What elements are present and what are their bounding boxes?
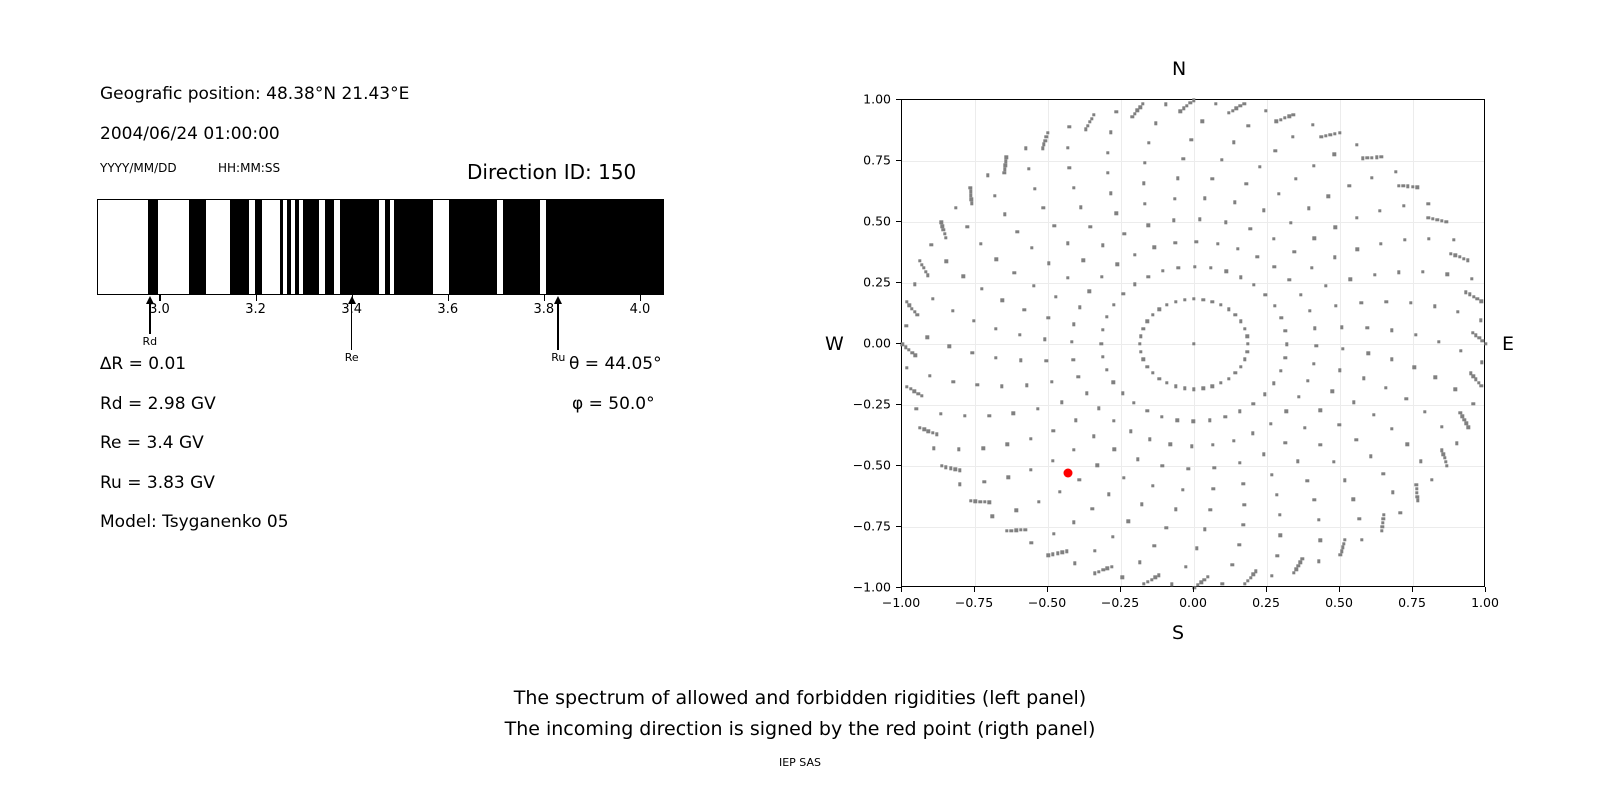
- scatter-point: [1133, 283, 1136, 286]
- scatter-point: [1276, 554, 1279, 557]
- x-tick-label: 0.00: [1179, 595, 1207, 610]
- scatter-point: [928, 374, 931, 377]
- scatter-point: [1092, 113, 1095, 116]
- scatter-point: [1427, 216, 1430, 219]
- scatter-point: [1209, 266, 1212, 269]
- gridline-horizontal: [902, 527, 1484, 528]
- gridline-vertical: [1340, 100, 1341, 586]
- scatter-point: [1338, 369, 1341, 372]
- scatter-point: [1419, 460, 1422, 463]
- scatter-point: [1070, 340, 1073, 343]
- scatter-point: [1234, 371, 1237, 374]
- gridline-vertical: [1121, 100, 1122, 586]
- scatter-point: [917, 392, 920, 395]
- scatter-point: [1334, 304, 1337, 307]
- spectrum-tick-label: 3.8: [534, 302, 555, 317]
- scatter-point: [1239, 320, 1242, 323]
- scatter-point: [1106, 567, 1109, 570]
- scatter-point: [970, 201, 973, 204]
- scatter-point: [1005, 156, 1008, 159]
- scatter-point: [940, 464, 943, 467]
- scatter-point: [1369, 455, 1372, 458]
- scatter-point: [1317, 518, 1320, 521]
- scatter-point: [1138, 342, 1141, 345]
- scatter-point: [1324, 134, 1327, 137]
- scatter-point: [1146, 275, 1149, 278]
- scatter-point: [1255, 255, 1258, 258]
- forbidden-band: [503, 200, 540, 294]
- scatter-point: [943, 232, 946, 235]
- scatter-point: [1013, 271, 1016, 274]
- scatter-point: [1232, 439, 1235, 442]
- y-tick-label: −0.75: [835, 519, 891, 534]
- scatter-point: [1212, 487, 1215, 490]
- scatter-point: [1236, 247, 1239, 250]
- scatter-point: [1307, 207, 1310, 210]
- scatter-point: [1015, 230, 1018, 233]
- caption-line-2: The incoming direction is signed by the …: [0, 718, 1600, 740]
- scatter-point: [1479, 319, 1482, 322]
- gridline-horizontal: [902, 222, 1484, 223]
- scatter-point: [1004, 160, 1007, 163]
- scatter-point: [1462, 257, 1465, 260]
- scatter-point: [1203, 528, 1206, 531]
- scatter-point: [918, 426, 921, 429]
- scatter-point: [1356, 248, 1359, 251]
- scatter-point: [1242, 482, 1245, 485]
- scatter-point: [1192, 420, 1195, 423]
- x-tick-mark: [1047, 587, 1048, 592]
- scatter-point: [1206, 575, 1209, 578]
- scatter-point: [942, 228, 945, 231]
- scatter-point: [1072, 448, 1075, 451]
- scatter-point: [1111, 535, 1114, 538]
- scatter-point: [1310, 266, 1313, 269]
- scatter-point: [1333, 256, 1336, 259]
- scatter-point: [1263, 392, 1266, 395]
- scatter-point: [1258, 165, 1261, 168]
- scatter-point: [1287, 278, 1290, 281]
- gridline-horizontal: [902, 283, 1484, 284]
- spectrum-tick-label: 3.2: [245, 302, 266, 317]
- scatter-point: [914, 354, 917, 357]
- scatter-point: [1404, 397, 1407, 400]
- forbidden-band: [255, 200, 262, 294]
- param-model: Model: Tsyganenko 05: [100, 512, 289, 532]
- scatter-point: [1208, 419, 1211, 422]
- scatter-point: [1146, 320, 1149, 323]
- scatter-point: [1453, 388, 1456, 391]
- scatter-point: [1142, 358, 1145, 361]
- scatter-point: [920, 394, 923, 397]
- scatter-point: [1091, 507, 1094, 510]
- scatter-point: [958, 483, 961, 486]
- scatter-point: [1161, 464, 1164, 467]
- scatter-point: [1109, 191, 1112, 194]
- scatter-point: [1148, 438, 1151, 441]
- marker-arrowhead-ru: [554, 296, 562, 304]
- scatter-point: [1398, 511, 1401, 514]
- scatter-point: [1366, 352, 1369, 355]
- scatter-point: [1251, 432, 1254, 435]
- scatter-point: [1164, 102, 1167, 105]
- scatter-point: [1023, 308, 1026, 311]
- scatter-point: [1019, 359, 1022, 362]
- scatter-point: [1413, 366, 1416, 369]
- marker-arrow-re: [351, 304, 353, 350]
- scatter-point: [1365, 156, 1368, 159]
- direction-scatter-plot: [901, 99, 1485, 587]
- scatter-point: [931, 431, 934, 434]
- scatter-point: [1136, 458, 1139, 461]
- spectrum-tick-label: 4.0: [630, 302, 651, 317]
- scatter-point: [1292, 113, 1295, 116]
- x-tick-mark: [1339, 587, 1340, 592]
- scatter-point: [969, 194, 972, 197]
- scatter-point: [1299, 293, 1302, 296]
- x-tick-mark: [974, 587, 975, 592]
- scatter-point: [1249, 227, 1252, 230]
- scatter-point: [1201, 119, 1204, 122]
- scatter-point: [1291, 135, 1294, 138]
- scatter-point: [1381, 472, 1384, 475]
- param-rd: Rd = 2.98 GV: [100, 394, 216, 414]
- scatter-point: [1158, 308, 1161, 311]
- scatter-point: [1068, 125, 1071, 128]
- scatter-point: [1243, 503, 1246, 506]
- scatter-point: [1452, 238, 1455, 241]
- scatter-point: [1024, 146, 1027, 149]
- scatter-point: [1216, 242, 1219, 245]
- scatter-point: [1384, 386, 1387, 389]
- scatter-point: [1136, 109, 1139, 112]
- gridline-horizontal: [902, 161, 1484, 162]
- scatter-point: [1284, 409, 1287, 412]
- scatter-point: [1007, 475, 1010, 478]
- param-delta-r: ∆R = 0.01: [100, 354, 186, 374]
- scatter-point: [1284, 329, 1287, 332]
- gridline-vertical: [975, 100, 976, 586]
- scatter-point: [1454, 254, 1457, 257]
- scatter-point: [1224, 220, 1227, 223]
- x-tick-label: −0.50: [1028, 595, 1066, 610]
- scatter-point: [1029, 437, 1032, 440]
- scatter-point: [1100, 342, 1103, 345]
- scatter-point: [1219, 381, 1222, 384]
- scatter-point: [1245, 350, 1248, 353]
- scatter-point: [1066, 276, 1069, 279]
- x-tick-label: −0.75: [955, 595, 993, 610]
- scatter-point: [1143, 161, 1146, 164]
- scatter-point: [1360, 301, 1363, 304]
- scatter-point: [1001, 299, 1004, 302]
- scatter-point: [1138, 561, 1141, 564]
- scatter-point: [913, 282, 916, 285]
- scatter-point: [1330, 389, 1333, 392]
- scatter-point: [1133, 253, 1136, 256]
- scatter-point: [1183, 298, 1186, 301]
- scatter-point: [1112, 303, 1115, 306]
- spectrum-tick: [256, 295, 257, 301]
- scatter-point: [1174, 508, 1177, 511]
- scatter-point: [1211, 177, 1214, 180]
- gridline-horizontal: [902, 466, 1484, 467]
- scatter-point: [1101, 568, 1104, 571]
- scatter-point: [909, 387, 912, 390]
- scatter-point: [1093, 571, 1096, 574]
- y-tick-label: 1.00: [835, 92, 891, 107]
- scatter-point: [920, 263, 923, 266]
- highlighted-direction-point[interactable]: [1064, 469, 1073, 478]
- scatter-point: [1239, 365, 1242, 368]
- scatter-point: [1312, 164, 1315, 167]
- scatter-point: [988, 414, 991, 417]
- scatter-point: [974, 500, 977, 503]
- scatter-point: [1390, 358, 1393, 361]
- direction-id-label: Direction ID: 150: [467, 160, 636, 184]
- scatter-point: [1127, 520, 1130, 523]
- scatter-point: [1352, 498, 1355, 501]
- scatter-point: [1173, 197, 1176, 200]
- param-theta: θ = 44.05°: [569, 354, 662, 374]
- scatter-point: [1319, 539, 1322, 542]
- scatter-point: [1089, 225, 1092, 228]
- scatter-point: [1284, 441, 1287, 444]
- scatter-point: [969, 190, 972, 193]
- scatter-point: [1297, 395, 1300, 398]
- scatter-point: [1245, 182, 1248, 185]
- x-tick-mark: [901, 587, 902, 592]
- scatter-point: [1437, 340, 1440, 343]
- scatter-point: [1109, 131, 1112, 134]
- scatter-point: [1238, 410, 1241, 413]
- x-tick-mark: [1266, 587, 1267, 592]
- scatter-point: [1264, 293, 1267, 296]
- forbidden-band: [303, 200, 319, 294]
- scatter-point: [1082, 259, 1085, 262]
- scatter-point: [1219, 303, 1222, 306]
- param-phi: φ = 50.0°: [572, 394, 655, 414]
- scatter-point: [1273, 149, 1276, 152]
- scatter-point: [1052, 224, 1055, 227]
- scatter-point: [1312, 362, 1315, 365]
- scatter-point: [1366, 326, 1369, 329]
- scatter-point: [1192, 297, 1195, 300]
- scatter-point: [1153, 246, 1156, 249]
- scatter-point: [1154, 122, 1157, 125]
- y-tick-mark: [896, 465, 901, 466]
- x-tick-label: 0.25: [1252, 595, 1280, 610]
- scatter-point: [910, 307, 913, 310]
- scatter-point: [1045, 135, 1048, 138]
- scatter-point: [1431, 217, 1434, 220]
- scatter-point: [944, 466, 947, 469]
- x-tick-mark: [1120, 587, 1121, 592]
- scatter-point: [1072, 186, 1075, 189]
- scatter-point: [1380, 529, 1383, 532]
- scatter-point: [1106, 171, 1109, 174]
- scatter-point: [1088, 289, 1091, 292]
- scatter-point: [1160, 415, 1163, 418]
- scatter-point: [1121, 576, 1124, 579]
- scatter-point: [1221, 582, 1224, 585]
- scatter-point: [1349, 277, 1352, 280]
- scatter-point: [1029, 468, 1032, 471]
- scatter-point: [1187, 467, 1190, 470]
- marker-label-ru: Ru: [551, 351, 565, 364]
- scatter-point: [932, 447, 935, 450]
- compass-label-south: S: [1172, 622, 1184, 644]
- scatter-point: [1077, 478, 1080, 481]
- scatter-point: [1332, 460, 1335, 463]
- scatter-point: [1085, 392, 1088, 395]
- x-tick-mark: [1412, 587, 1413, 592]
- scatter-point: [1183, 387, 1186, 390]
- spectrum-tick-label: 3.6: [437, 302, 458, 317]
- scatter-point: [1066, 146, 1069, 149]
- scatter-point: [935, 433, 938, 436]
- scatter-point: [1382, 513, 1385, 516]
- scatter-point: [1234, 313, 1237, 316]
- scatter-point: [1275, 493, 1278, 496]
- y-tick-label: 0.75: [835, 153, 891, 168]
- scatter-point: [1317, 560, 1320, 563]
- scatter-point: [907, 348, 910, 351]
- scatter-point: [1243, 102, 1246, 105]
- y-tick-label: −1.00: [835, 580, 891, 595]
- scatter-point: [1042, 143, 1045, 146]
- scatter-point: [965, 225, 968, 228]
- scatter-point: [1338, 131, 1341, 134]
- scatter-point: [1090, 117, 1093, 120]
- scatter-point: [1142, 582, 1145, 585]
- scatter-point: [993, 194, 996, 197]
- scatter-point: [915, 407, 918, 410]
- spectrum-axis-line: [97, 294, 664, 295]
- scatter-point: [1074, 419, 1077, 422]
- scatter-point: [982, 446, 985, 449]
- scatter-point: [1239, 104, 1242, 107]
- scatter-point: [1436, 218, 1439, 221]
- forbidden-band: [385, 200, 390, 294]
- scatter-point: [1060, 551, 1063, 554]
- scatter-point: [1047, 554, 1050, 557]
- scatter-point: [1181, 488, 1184, 491]
- scatter-point: [1000, 384, 1003, 387]
- x-tick-label: 0.50: [1325, 595, 1353, 610]
- scatter-point: [945, 260, 948, 263]
- scatter-point: [1409, 301, 1412, 304]
- scatter-point: [1449, 252, 1452, 255]
- marker-label-rd: Rd: [143, 335, 158, 348]
- scatter-point: [1088, 120, 1091, 123]
- scatter-point: [1303, 426, 1306, 429]
- scatter-point: [1338, 553, 1341, 556]
- scatter-point: [1402, 204, 1405, 207]
- scatter-point: [1264, 109, 1267, 112]
- scatter-point: [1340, 325, 1343, 328]
- scatter-point: [910, 351, 913, 354]
- scatter-point: [1041, 206, 1044, 209]
- scatter-point: [1416, 499, 1419, 502]
- scatter-point: [1355, 143, 1358, 146]
- scatter-point: [905, 366, 908, 369]
- scatter-point: [1198, 218, 1201, 221]
- scatter-point: [1390, 427, 1393, 430]
- geographic-position-label: Geografic position: 48.38°N 21.43°E: [100, 84, 409, 104]
- scatter-point: [913, 310, 916, 313]
- time-format-hint: HH:MM:SS: [218, 161, 280, 175]
- scatter-point: [1320, 135, 1323, 138]
- scatter-point: [1151, 313, 1154, 316]
- scatter-point: [1334, 225, 1337, 228]
- scatter-point: [1381, 525, 1384, 528]
- forbidden-band: [394, 200, 433, 294]
- scatter-point: [1066, 242, 1069, 245]
- scatter-point: [1458, 255, 1461, 258]
- scatter-point: [1352, 401, 1355, 404]
- scatter-point: [1415, 491, 1418, 494]
- x-tick-mark: [1485, 587, 1486, 592]
- scatter-point: [1269, 422, 1272, 425]
- scatter-point: [905, 324, 908, 327]
- scatter-point: [1003, 171, 1006, 174]
- spectrum-band-track: [97, 199, 664, 295]
- scatter-point: [970, 198, 973, 201]
- scatter-point: [1192, 387, 1195, 390]
- scatter-point: [1423, 410, 1426, 413]
- scatter-point: [1092, 435, 1095, 438]
- scatter-point: [1390, 329, 1393, 332]
- scatter-point: [1044, 139, 1047, 142]
- scatter-point: [922, 266, 925, 269]
- scatter-point: [1072, 521, 1075, 524]
- scatter-point: [1115, 110, 1118, 113]
- scatter-point: [1459, 349, 1462, 352]
- scatter-point: [1378, 209, 1381, 212]
- scatter-point: [927, 429, 930, 432]
- scatter-point: [1071, 358, 1074, 361]
- scatter-point: [1184, 565, 1187, 568]
- scatter-point: [1105, 368, 1108, 371]
- scatter-point: [1306, 379, 1309, 382]
- scatter-point: [924, 270, 927, 273]
- scatter-point: [1411, 185, 1414, 188]
- scatter-point: [1112, 419, 1115, 422]
- scatter-point: [1394, 170, 1397, 173]
- scatter-point: [1414, 333, 1417, 336]
- scatter-point: [980, 287, 983, 290]
- marker-arrow-rd: [149, 304, 151, 334]
- scatter-point: [1173, 241, 1176, 244]
- scatter-point: [1051, 553, 1054, 556]
- scatter-point: [983, 480, 986, 483]
- scatter-point: [1480, 361, 1483, 364]
- scatter-point: [961, 274, 964, 277]
- scatter-point: [1243, 327, 1246, 330]
- scatter-point: [1313, 237, 1316, 240]
- scatter-point: [1050, 380, 1053, 383]
- scatter-point: [1177, 266, 1180, 269]
- scatter-point: [1430, 478, 1433, 481]
- param-re: Re = 3.4 GV: [100, 433, 204, 453]
- scatter-point: [1445, 220, 1448, 223]
- scatter-point: [1380, 155, 1383, 158]
- scatter-point: [1232, 141, 1235, 144]
- scatter-point: [1195, 547, 1198, 550]
- caption-line-1: The spectrum of allowed and forbidden ri…: [0, 687, 1600, 709]
- scatter-point: [1239, 275, 1242, 278]
